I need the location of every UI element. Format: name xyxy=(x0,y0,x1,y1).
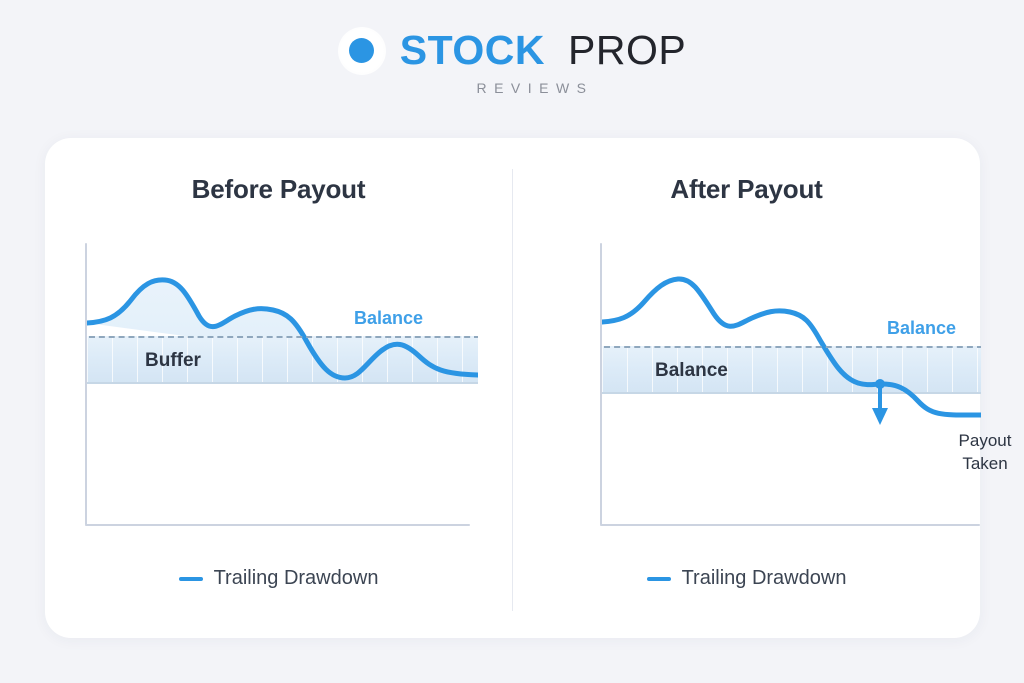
buffer-band-label: Buffer xyxy=(145,350,201,372)
legend-label-trailing-drawdown: Trailing Drawdown xyxy=(214,567,379,590)
payout-note-line-2: Taken xyxy=(920,453,1024,476)
chart-before-payout: Buffer Balance xyxy=(85,238,478,530)
logo-word-stock: STOCK xyxy=(400,30,545,71)
down-arrow-icon xyxy=(872,408,888,425)
legend-after: Trailing Drawdown xyxy=(513,567,980,590)
balance-threshold-label: Balance xyxy=(887,318,956,339)
brand-logo: STOCK PROP REVIEWS xyxy=(338,27,686,96)
brand-logo-bar: STOCK PROP REVIEWS xyxy=(0,0,1024,130)
panel-before-payout: Before Payout xyxy=(45,138,512,638)
chart-after-payout: Balance Balance Payout Taken xyxy=(600,238,993,530)
payout-taken-note: Payout Taken xyxy=(920,430,1024,476)
balance-threshold-line xyxy=(89,336,478,338)
logo-wordmark-row: STOCK PROP xyxy=(338,27,686,75)
filled-circle-icon xyxy=(338,27,386,75)
line-dash-marker-icon xyxy=(647,577,671,581)
balance-threshold-line xyxy=(604,346,981,348)
balance-threshold-label: Balance xyxy=(354,308,423,329)
legend-label-trailing-drawdown: Trailing Drawdown xyxy=(682,567,847,590)
trailing-drawdown-curve-after xyxy=(602,238,981,530)
logo-tagline: REVIEWS xyxy=(476,80,593,96)
logo-word-prop: PROP xyxy=(568,30,686,71)
plot-area-after xyxy=(602,238,981,530)
legend-before: Trailing Drawdown xyxy=(45,567,512,590)
panel-title-before: Before Payout xyxy=(45,174,512,205)
plot-area-before xyxy=(87,238,478,530)
payout-note-line-1: Payout xyxy=(920,430,1024,453)
balance-band-label: Balance xyxy=(655,360,728,382)
trailing-drawdown-curve-before xyxy=(87,238,478,530)
panel-after-payout: After Payout Balance xyxy=(513,138,980,638)
comparison-card: Before Payout xyxy=(45,138,980,638)
logo-dot xyxy=(349,38,374,63)
panel-title-after: After Payout xyxy=(513,174,980,205)
line-dash-marker-icon xyxy=(179,577,203,581)
